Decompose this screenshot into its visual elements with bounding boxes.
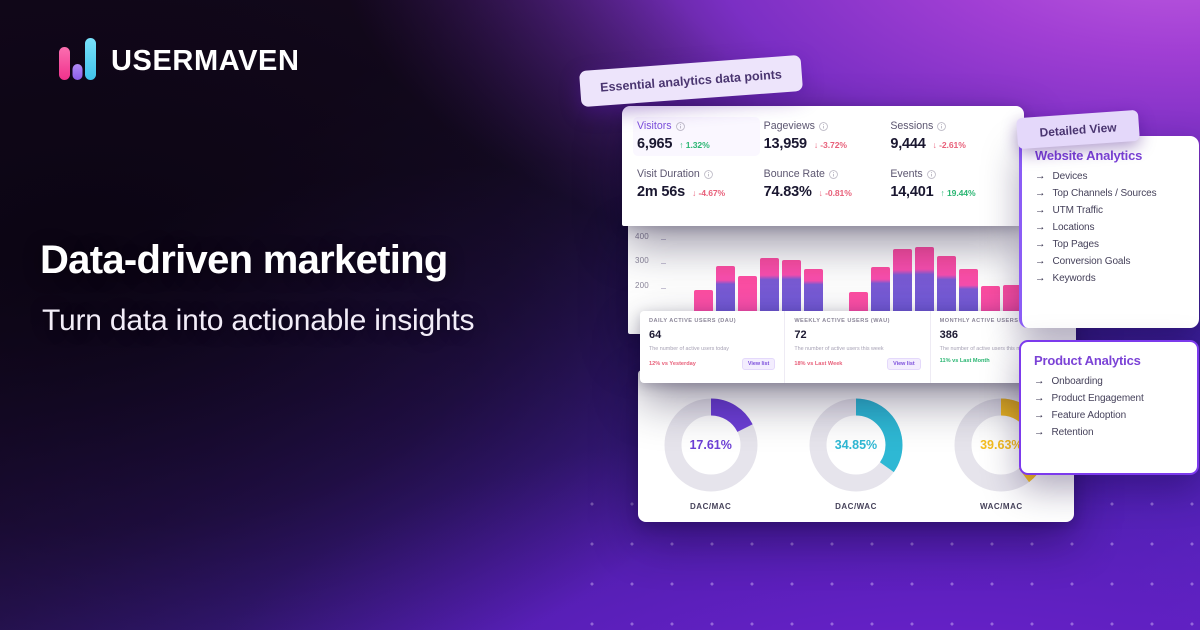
kpi-label-text: Visit Duration xyxy=(637,168,700,180)
donut-cell: 17.61%DAC/MAC xyxy=(638,396,783,511)
active-users-card: DAILY ACTIVE USERS (DAU)64The number of … xyxy=(640,311,1076,383)
donut-caption: DAC/WAC xyxy=(835,502,877,511)
kpi-label: Visitors xyxy=(637,120,756,132)
kpi-value-row: 14,401↑ 19.44% xyxy=(890,184,1009,200)
info-icon[interactable] xyxy=(819,122,828,131)
donut-percentage: 34.85% xyxy=(807,396,905,494)
arrow-right-icon: → xyxy=(1034,410,1045,421)
nav-item-feature-adoption[interactable]: →Feature Adoption xyxy=(1034,410,1185,421)
arrow-right-icon: → xyxy=(1034,427,1045,438)
kpi-stats-card: Visitors6,965↑ 1.32%Pageviews13,959↓ -3.… xyxy=(622,106,1024,226)
kpi-grid: Visitors6,965↑ 1.32%Pageviews13,959↓ -3.… xyxy=(622,117,1024,204)
active-users-delta: 12% vs Yesterday xyxy=(649,361,696,367)
nav-item-utm-traffic[interactable]: →UTM Traffic xyxy=(1035,205,1187,216)
nav-item-label: Feature Adoption xyxy=(1052,410,1127,421)
active-users-delta: 18% vs Last Week xyxy=(794,361,842,367)
nav-item-product-engagement[interactable]: →Product Engagement xyxy=(1034,393,1185,404)
nav-item-locations[interactable]: →Locations xyxy=(1035,222,1187,233)
info-icon[interactable] xyxy=(704,170,713,179)
kpi-delta: ↓ -2.61% xyxy=(933,140,966,150)
kpi-value-row: 13,959↓ -3.72% xyxy=(764,136,883,152)
kpi-cell: Visit Duration2m 56s↓ -4.67% xyxy=(633,165,760,204)
kpi-value: 9,444 xyxy=(890,136,925,152)
y-axis-tick-mark xyxy=(661,239,666,240)
kpi-cell: Sessions9,444↓ -2.61% xyxy=(886,117,1013,156)
kpi-label: Pageviews xyxy=(764,120,883,132)
info-icon[interactable] xyxy=(927,170,936,179)
nav-item-label: Devices xyxy=(1053,171,1088,182)
y-axis-tick-mark xyxy=(661,288,666,289)
kpi-label-text: Pageviews xyxy=(764,120,815,132)
nav-item-keywords[interactable]: →Keywords xyxy=(1035,273,1187,284)
y-axis-tick-label: 400 xyxy=(635,232,649,241)
active-users-footer: 18% vs Last WeekView list xyxy=(794,358,920,370)
kpi-label: Bounce Rate xyxy=(764,168,883,180)
nav-item-onboarding[interactable]: →Onboarding xyxy=(1034,376,1185,387)
kpi-label-text: Bounce Rate xyxy=(764,168,825,180)
kpi-value-row: 2m 56s↓ -4.67% xyxy=(637,184,756,200)
kpi-label-text: Events xyxy=(890,168,922,180)
active-users-delta: 11% vs Last Month xyxy=(940,358,990,364)
kpi-value-row: 74.83%↓ -0.81% xyxy=(764,184,883,200)
kpi-delta: ↑ 1.32% xyxy=(679,140,709,150)
arrow-right-icon: → xyxy=(1035,239,1046,250)
arrow-right-icon: → xyxy=(1035,273,1046,284)
nav-item-devices[interactable]: →Devices xyxy=(1035,171,1187,182)
y-axis-tick-label: 300 xyxy=(635,256,649,265)
arrow-right-icon: → xyxy=(1035,222,1046,233)
arrow-right-icon: → xyxy=(1035,256,1046,267)
nav-item-label: UTM Traffic xyxy=(1053,205,1103,216)
nav-item-label: Top Channels / Sources xyxy=(1053,188,1157,199)
kpi-delta: ↓ -0.81% xyxy=(819,188,852,198)
active-users-description: The number of active users today xyxy=(649,346,775,353)
kpi-value: 6,965 xyxy=(637,136,672,152)
view-list-button[interactable]: View list xyxy=(887,358,920,370)
panel-website-analytics[interactable]: Website Analytics →Devices→Top Channels … xyxy=(1019,136,1199,328)
kpi-cell: Events14,401↑ 19.44% xyxy=(886,165,1013,204)
website-analytics-list: →Devices→Top Channels / Sources→UTM Traf… xyxy=(1035,171,1187,284)
y-axis-tick-label: 200 xyxy=(635,281,649,290)
kpi-label: Events xyxy=(890,168,1009,180)
donut-cell: 34.85%DAC/WAC xyxy=(783,396,928,511)
dashboard-composition: Essential analytics data points Detailed… xyxy=(0,0,1200,630)
nav-item-top-channels-sources[interactable]: →Top Channels / Sources xyxy=(1035,188,1187,199)
active-users-description: The number of active users this week xyxy=(794,346,920,353)
active-users-cell: WEEKLY ACTIVE USERS (WAU)72The number of… xyxy=(785,311,930,383)
badge-essential-label: Essential analytics data points xyxy=(600,67,783,94)
badge-detailed-view-label: Detailed View xyxy=(1039,120,1117,139)
nav-item-label: Top Pages xyxy=(1053,239,1099,250)
donut-caption: WAC/MAC xyxy=(980,502,1023,511)
kpi-cell: Bounce Rate74.83%↓ -0.81% xyxy=(760,165,887,204)
active-users-value: 64 xyxy=(649,329,775,341)
nav-item-retention[interactable]: →Retention xyxy=(1034,427,1185,438)
nav-item-label: Keywords xyxy=(1053,273,1096,284)
panel-product-analytics[interactable]: Product Analytics →Onboarding→Product En… xyxy=(1019,340,1199,475)
kpi-value: 2m 56s xyxy=(637,184,685,200)
kpi-label-text: Visitors xyxy=(637,120,672,132)
badge-essential-analytics: Essential analytics data points xyxy=(579,55,803,107)
info-icon[interactable] xyxy=(676,122,685,131)
kpi-value-row: 6,965↑ 1.32% xyxy=(637,136,756,152)
panel-website-analytics-title: Website Analytics xyxy=(1035,148,1187,163)
arrow-right-icon: → xyxy=(1035,171,1046,182)
kpi-value-row: 9,444↓ -2.61% xyxy=(890,136,1009,152)
kpi-delta: ↓ -3.72% xyxy=(814,140,847,150)
stickiness-donuts-card: 17.61%DAC/MAC34.85%DAC/WAC39.63%WAC/MAC xyxy=(638,370,1074,522)
kpi-value: 14,401 xyxy=(890,184,933,200)
active-users-cell: DAILY ACTIVE USERS (DAU)64The number of … xyxy=(640,311,785,383)
nav-item-label: Conversion Goals xyxy=(1053,256,1131,267)
kpi-cell: Pageviews13,959↓ -3.72% xyxy=(760,117,887,156)
kpi-delta: ↑ 19.44% xyxy=(940,188,975,198)
kpi-label: Visit Duration xyxy=(637,168,756,180)
arrow-right-icon: → xyxy=(1035,205,1046,216)
active-users-footer: 12% vs YesterdayView list xyxy=(649,358,775,370)
active-users-title: DAILY ACTIVE USERS (DAU) xyxy=(649,318,775,324)
product-analytics-list: →Onboarding→Product Engagement→Feature A… xyxy=(1034,376,1185,438)
panel-product-analytics-title: Product Analytics xyxy=(1034,353,1185,368)
nav-item-conversion-goals[interactable]: →Conversion Goals xyxy=(1035,256,1187,267)
arrow-right-icon: → xyxy=(1035,188,1046,199)
arrow-right-icon: → xyxy=(1034,393,1045,404)
kpi-cell: Visitors6,965↑ 1.32% xyxy=(633,117,760,156)
nav-item-label: Locations xyxy=(1053,222,1095,233)
nav-item-label: Product Engagement xyxy=(1052,393,1144,404)
donut-wrapper: 34.85% xyxy=(807,396,905,494)
donut-caption: DAC/MAC xyxy=(690,502,731,511)
nav-item-label: Onboarding xyxy=(1052,376,1103,387)
donut-wrapper: 17.61% xyxy=(662,396,760,494)
info-icon[interactable] xyxy=(829,170,838,179)
info-icon[interactable] xyxy=(937,122,946,131)
nav-item-label: Retention xyxy=(1052,427,1094,438)
view-list-button[interactable]: View list xyxy=(742,358,775,370)
y-axis-tick-mark xyxy=(661,263,666,264)
kpi-value: 13,959 xyxy=(764,136,807,152)
nav-item-top-pages[interactable]: →Top Pages xyxy=(1035,239,1187,250)
kpi-label: Sessions xyxy=(890,120,1009,132)
active-users-value: 72 xyxy=(794,329,920,341)
kpi-delta: ↓ -4.67% xyxy=(692,188,725,198)
kpi-label-text: Sessions xyxy=(890,120,933,132)
donut-percentage: 17.61% xyxy=(662,396,760,494)
active-users-title: WEEKLY ACTIVE USERS (WAU) xyxy=(794,318,920,324)
kpi-value: 74.83% xyxy=(764,184,812,200)
arrow-right-icon: → xyxy=(1034,376,1045,387)
